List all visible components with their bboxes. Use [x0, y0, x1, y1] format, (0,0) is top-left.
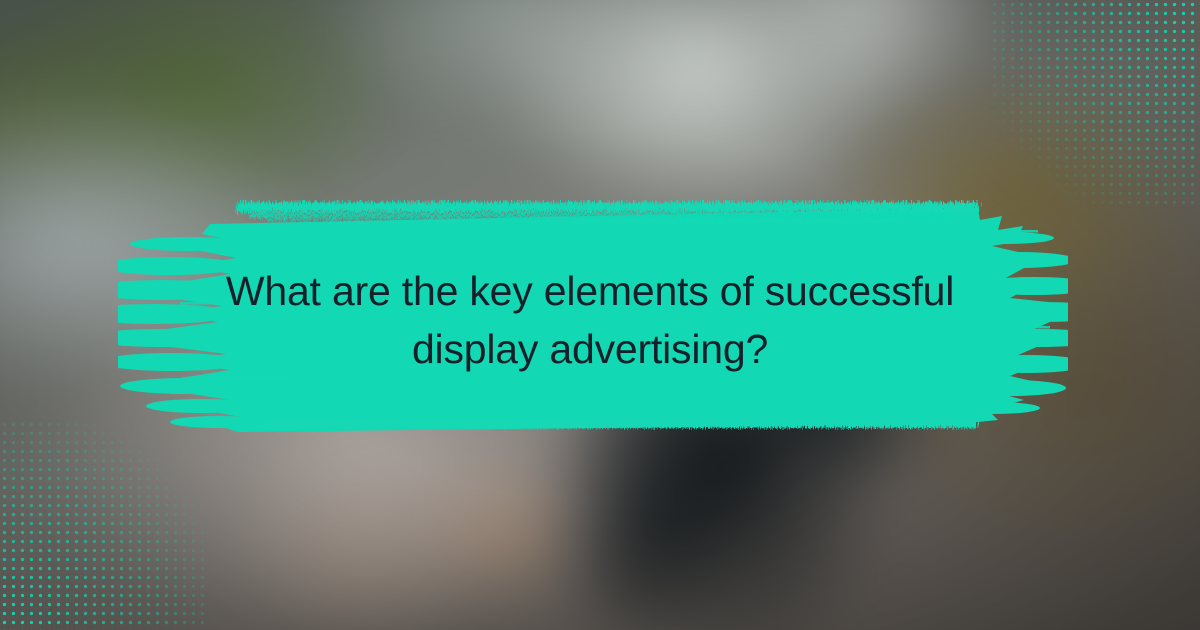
social-share-card: What are the key elements of successful … — [0, 0, 1200, 630]
page-title: What are the key elements of successful … — [190, 262, 990, 378]
